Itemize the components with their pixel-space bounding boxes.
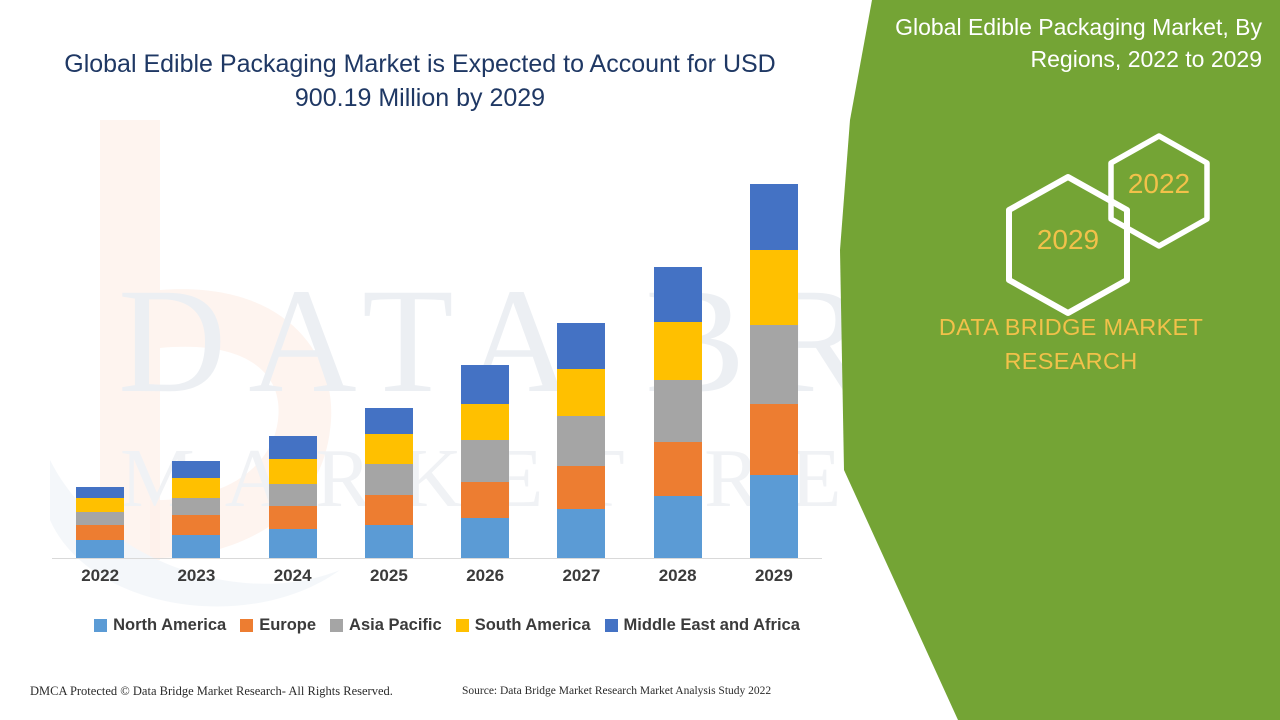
stacked-bar-chart [52,160,822,558]
bar-segment [557,369,605,415]
bar-segment [269,436,317,459]
bar-segment [172,515,220,534]
x-axis-tick-label: 2024 [245,566,341,586]
stacked-bar [461,365,509,558]
bar-segment [172,535,220,558]
bar-segment [557,509,605,558]
bar-column [533,160,629,558]
hexagon-start-year-label: 2022 [1103,168,1215,200]
page-title: Global Edible Packaging Market is Expect… [40,48,800,116]
bar-segment [750,404,798,474]
legend-swatch-icon [330,619,343,632]
legend-label: South America [475,616,591,635]
legend-item[interactable]: North America [94,616,226,635]
bar-column [52,160,148,558]
bar-segment [461,404,509,440]
brand-panel-content: Global Edible Packaging Market, By Regio… [840,0,1280,720]
bar-segment [76,498,124,513]
x-axis-tick-label: 2027 [533,566,629,586]
bar-segment [365,464,413,495]
stacked-bar [654,267,702,558]
stacked-bar [557,323,605,558]
bar-segment [461,482,509,518]
stacked-bar [750,184,798,558]
bar-segment [365,408,413,435]
bar-segment [461,440,509,482]
x-axis-labels: 20222023202420252026202720282029 [52,566,822,586]
x-axis-tick-label: 2023 [148,566,244,586]
source-note: Source: Data Bridge Market Research Mark… [462,685,771,697]
legend-item[interactable]: Middle East and Africa [605,616,800,635]
x-axis-tick-label: 2022 [52,566,148,586]
legend-item[interactable]: Europe [240,616,316,635]
bar-segment [750,325,798,405]
bar-column [726,160,822,558]
bar-segment [269,459,317,484]
bar-segment [172,478,220,497]
legend-item[interactable]: Asia Pacific [330,616,442,635]
copyright-notice: DMCA Protected © Data Bridge Market Rese… [30,684,393,699]
x-axis-tick-label: 2026 [437,566,533,586]
bar-segment [365,434,413,464]
stacked-bar [76,487,124,558]
bar-segment [76,512,124,525]
legend-swatch-icon [456,619,469,632]
bar-column [148,160,244,558]
bar-column [437,160,533,558]
bar-segment [76,487,124,498]
x-axis-line [52,558,822,559]
legend-item[interactable]: South America [456,616,591,635]
panel-title: Global Edible Packaging Market, By Regio… [880,12,1262,75]
bar-segment [557,466,605,510]
bar-segment [76,540,124,558]
bar-column [341,160,437,558]
bar-segment [654,380,702,442]
bar-segment [172,461,220,478]
bar-segment [654,442,702,496]
bar-segment [172,498,220,516]
brand-name: DATA BRIDGE MARKET RESEARCH [880,310,1262,378]
x-axis-tick-label: 2029 [726,566,822,586]
hexagon-badges: 2029 2022 [985,130,1235,310]
bar-segment [654,496,702,558]
bar-segment [365,525,413,558]
bar-segment [557,416,605,466]
bar-segment [461,518,509,558]
stacked-bar [172,461,220,558]
bar-segment [557,323,605,369]
bar-segment [269,506,317,529]
bar-segment [750,184,798,250]
chart-panel: Global Edible Packaging Market is Expect… [0,0,900,720]
x-axis-tick-label: 2025 [341,566,437,586]
stacked-bar [269,436,317,558]
bar-segment [750,250,798,325]
legend-swatch-icon [605,619,618,632]
legend-swatch-icon [240,619,253,632]
bar-segment [750,475,798,558]
bar-column [630,160,726,558]
legend-label: Europe [259,616,316,635]
bar-column [245,160,341,558]
legend-label: North America [113,616,226,635]
chart-legend: North AmericaEuropeAsia PacificSouth Ame… [52,616,842,635]
infographic-canvas: DATA BRIDGE MARKET RESEARCH Global Edibl… [0,0,1280,720]
bar-segment [76,525,124,540]
legend-swatch-icon [94,619,107,632]
legend-label: Middle East and Africa [624,616,800,635]
hexagon-badge-start-year: 2022 [1103,132,1215,250]
x-axis-tick-label: 2028 [630,566,726,586]
bar-segment [654,322,702,380]
stacked-bar [365,408,413,558]
bar-segment [365,495,413,525]
bar-segment [269,529,317,558]
bar-segment [269,484,317,506]
bar-segment [461,365,509,404]
legend-label: Asia Pacific [349,616,442,635]
bar-segment [654,267,702,322]
